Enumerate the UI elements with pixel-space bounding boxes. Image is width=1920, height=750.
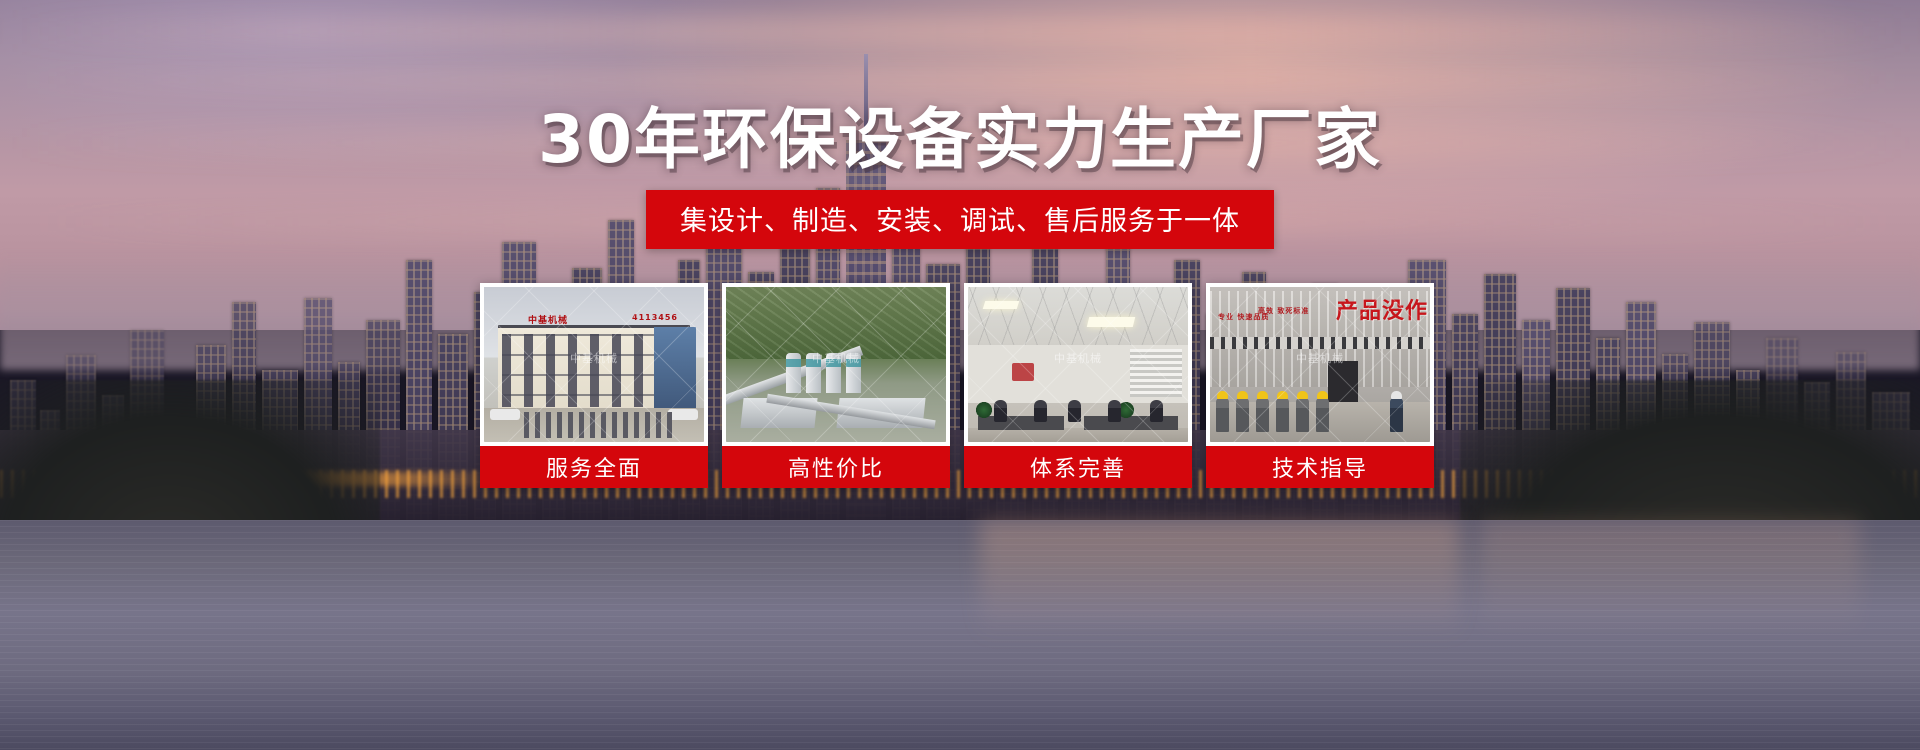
feature-card[interactable]: 中基机械 4113456 中基机械 服务全面 <box>480 283 708 488</box>
feature-card-caption: 服务全面 <box>480 446 708 488</box>
workshop-workers-photo: 产品没作 专业 快速品质 高效 致死标准 <box>1210 287 1430 442</box>
office-interior-staff-photo: 中基机械 <box>968 287 1188 442</box>
feature-card-caption: 高性价比 <box>722 446 950 488</box>
workshop-banner-text: 产品没作 <box>1336 293 1428 325</box>
feature-card-caption: 技术指导 <box>1206 446 1434 488</box>
banner-headline: 30年环保设备实力生产厂家 <box>0 104 1920 177</box>
building-sign-text: 中基机械 <box>528 313 568 326</box>
feature-card[interactable]: 产品没作 专业 快速品质 高效 致死标准 <box>1206 283 1434 488</box>
feature-card[interactable]: 中基机械 高性价比 <box>722 283 950 488</box>
hero-banner: 30年环保设备实力生产厂家 集设计、制造、安装、调试、售后服务于一体 中基机械 … <box>0 0 1920 750</box>
aerial-factory-plant-photo: 中基机械 <box>726 287 946 442</box>
feature-card-row: 中基机械 4113456 中基机械 服务全面 <box>480 283 1440 488</box>
banner-content: 30年环保设备实力生产厂家 集设计、制造、安装、调试、售后服务于一体 中基机械 … <box>0 0 1920 750</box>
banner-subtitle-bar: 集设计、制造、安装、调试、售后服务于一体 <box>646 190 1274 249</box>
building-phone-text: 4113456 <box>632 313 678 322</box>
feature-card[interactable]: 中基机械 体系完善 <box>964 283 1192 488</box>
workshop-wall-text: 高效 致死标准 <box>1258 307 1309 316</box>
company-office-building-photo: 中基机械 4113456 中基机械 <box>484 287 704 442</box>
feature-card-caption: 体系完善 <box>964 446 1192 488</box>
